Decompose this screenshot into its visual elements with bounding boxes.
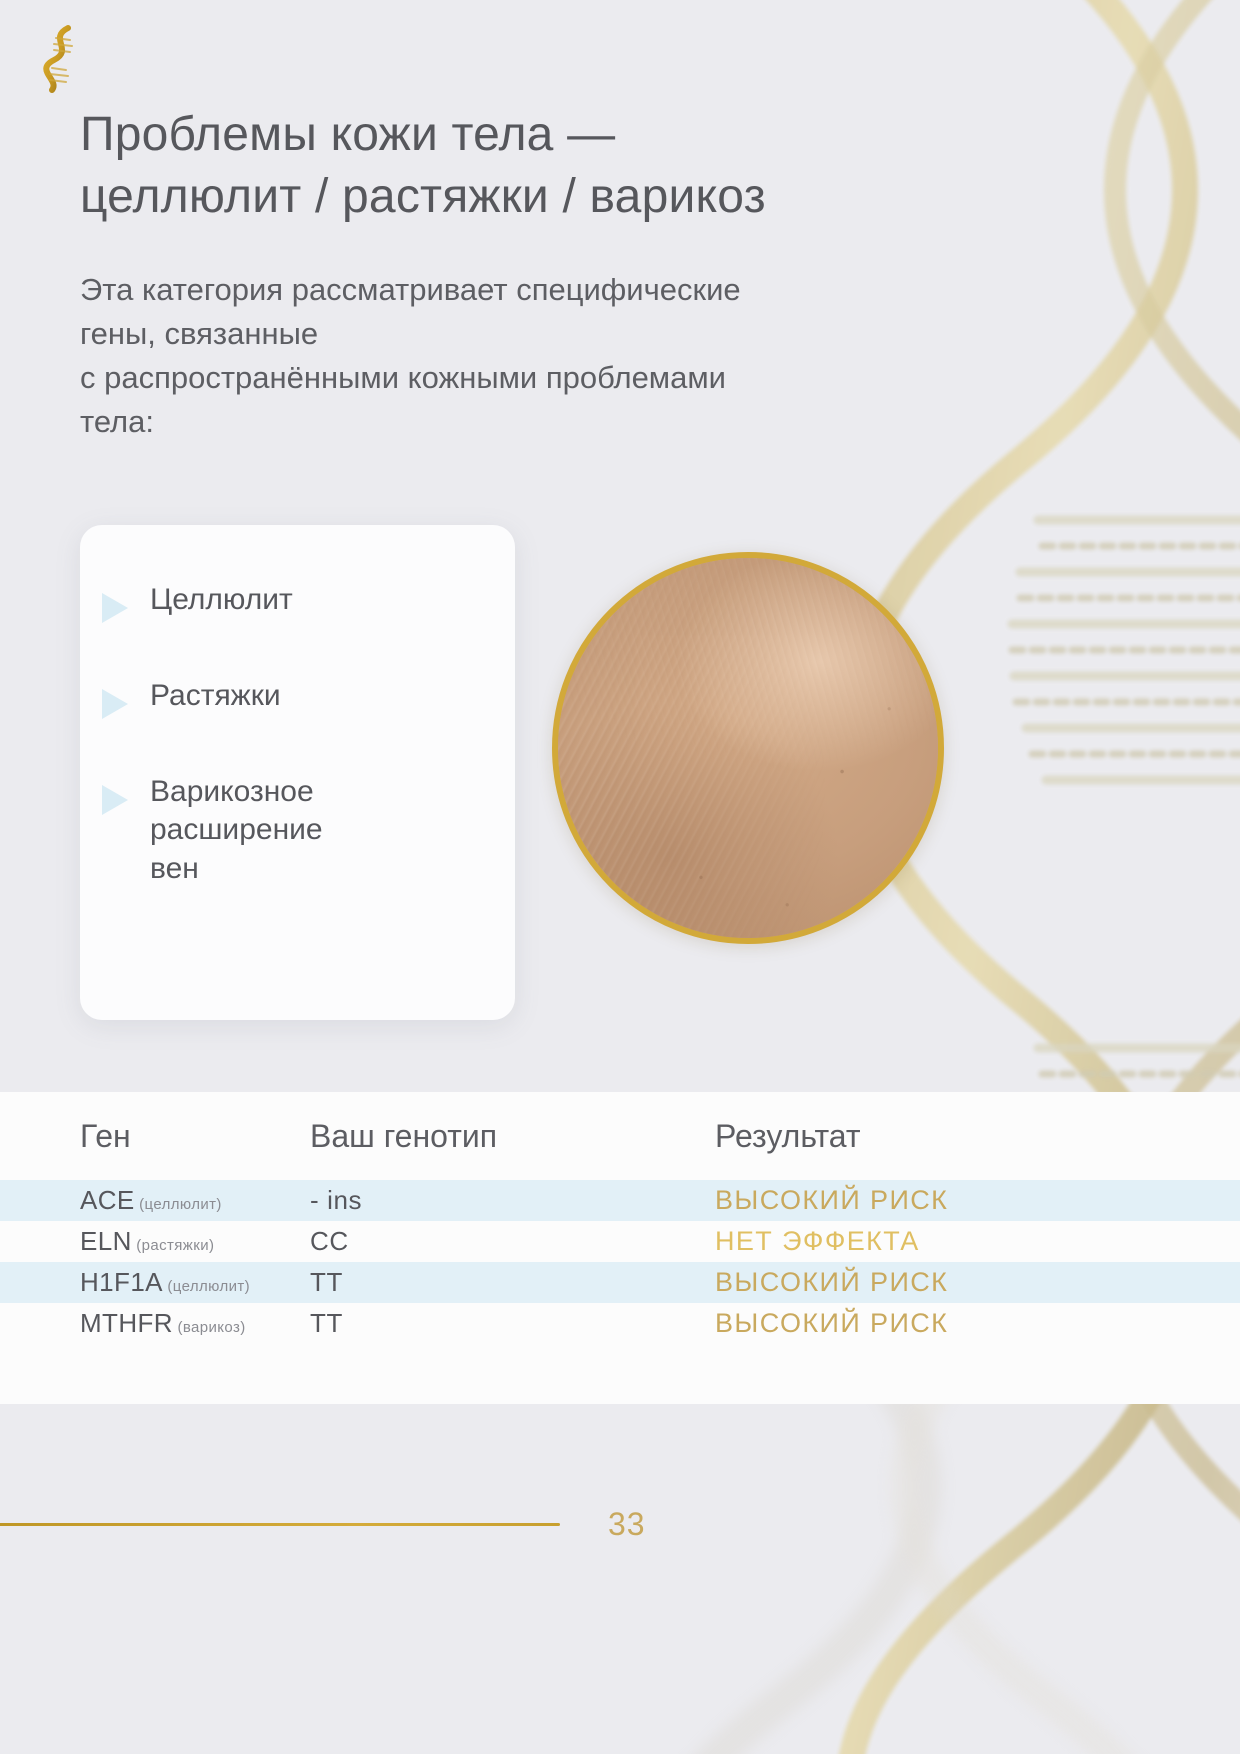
page-number: 33	[608, 1506, 646, 1543]
gene-name: ELN	[80, 1226, 132, 1256]
cell-result: ВЫСОКИЙ РИСК	[715, 1185, 1240, 1216]
list-item-label: Целлюлит	[150, 581, 293, 619]
intro-paragraph: Эта категория рассматривает специфически…	[80, 268, 780, 444]
column-header-result: Результат	[715, 1118, 1240, 1155]
footer-divider	[0, 1523, 560, 1526]
column-header-gene: Ген	[0, 1118, 310, 1155]
triangle-right-icon	[102, 593, 128, 623]
table-row[interactable]: ELN (растяжки) CC НЕТ ЭФФЕКТА	[0, 1221, 1240, 1262]
gene-name: ACE	[80, 1185, 135, 1215]
gene-name: MTHFR	[80, 1308, 173, 1338]
dna-helix-icon	[34, 22, 90, 94]
cell-genotype: TT	[310, 1267, 715, 1298]
cell-genotype: - ins	[310, 1185, 715, 1216]
cell-genotype: TT	[310, 1308, 715, 1339]
cell-gene: ACE (целлюлит)	[0, 1185, 310, 1216]
triangle-right-icon	[102, 785, 128, 815]
photo-layer-specks	[552, 552, 944, 944]
gene-note: (растяжки)	[136, 1237, 214, 1254]
table-header-row: Ген Ваш генотип Результат	[0, 1092, 1240, 1180]
cell-result: ВЫСОКИЙ РИСК	[715, 1308, 1240, 1339]
gene-note: (варикоз)	[177, 1319, 245, 1336]
skin-stretch-marks-photo	[552, 552, 944, 944]
gene-note: (целлюлит)	[139, 1196, 222, 1213]
table-footer-spacer	[0, 1344, 1240, 1404]
column-header-genotype: Ваш генотип	[310, 1118, 715, 1155]
page-title: Проблемы кожи тела — целлюлит / растяжки…	[80, 104, 940, 229]
table-row[interactable]: H1F1A (целлюлит) TT ВЫСОКИЙ РИСК	[0, 1262, 1240, 1303]
triangle-right-icon	[102, 689, 128, 719]
table-row[interactable]: ACE (целлюлит) - ins ВЫСОКИЙ РИСК	[0, 1180, 1240, 1221]
gene-name: H1F1A	[80, 1267, 163, 1297]
table-row[interactable]: MTHFR (варикоз) TT ВЫСОКИЙ РИСК	[0, 1303, 1240, 1344]
cell-gene: H1F1A (целлюлит)	[0, 1267, 310, 1298]
cell-gene: MTHFR (варикоз)	[0, 1308, 310, 1339]
list-item-label: Растяжки	[150, 677, 281, 715]
list-item[interactable]: Варикозное расширение вен	[102, 773, 497, 888]
conditions-card: Целлюлит Растяжки Варикозное расширение …	[80, 525, 515, 1020]
cell-genotype: CC	[310, 1226, 715, 1257]
conditions-list: Целлюлит Растяжки Варикозное расширение …	[102, 581, 497, 888]
cell-result: НЕТ ЭФФЕКТА	[715, 1226, 1240, 1257]
gene-note: (целлюлит)	[167, 1278, 250, 1295]
cell-gene: ELN (растяжки)	[0, 1226, 310, 1257]
list-item[interactable]: Растяжки	[102, 677, 497, 719]
list-item-label: Варикозное расширение вен	[150, 773, 323, 888]
genotype-results-table: Ген Ваш генотип Результат ACE (целлюлит)…	[0, 1092, 1240, 1404]
page-footer: 33	[0, 1504, 1240, 1544]
slide-page: Проблемы кожи тела — целлюлит / растяжки…	[0, 0, 1240, 1754]
cell-result: ВЫСОКИЙ РИСК	[715, 1267, 1240, 1298]
list-item[interactable]: Целлюлит	[102, 581, 497, 623]
